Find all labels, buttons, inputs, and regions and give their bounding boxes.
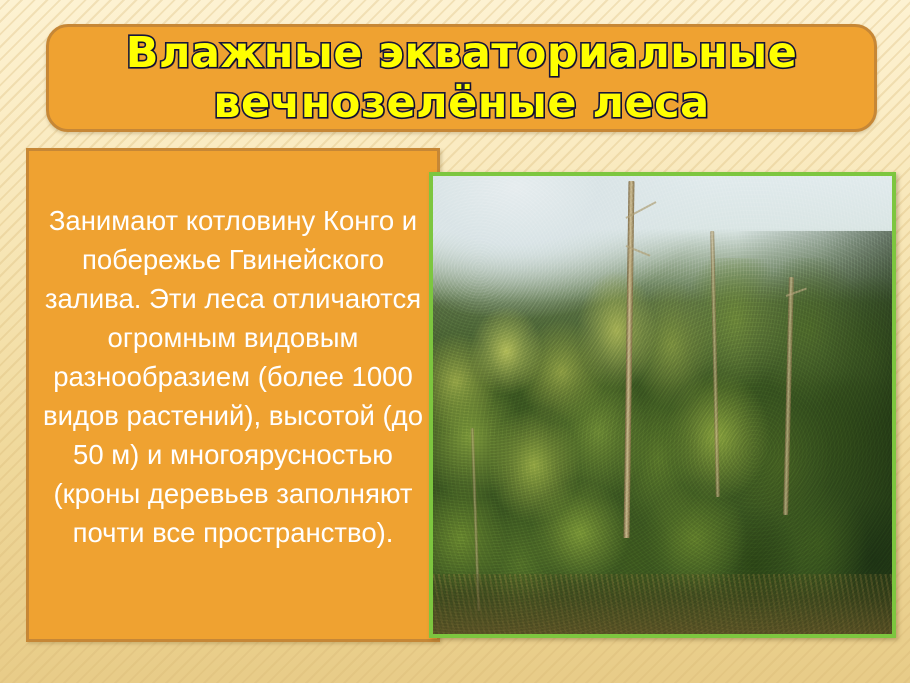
description-text: Занимают котловину Конго и побережье Гви… [29, 201, 437, 552]
title-box: Влажные экваториальные вечнозелёные леса [46, 24, 877, 132]
forest-photo-frame [429, 172, 896, 638]
slide-canvas: Влажные экваториальные вечнозелёные леса… [0, 0, 910, 683]
photo-foliage-texture [433, 176, 892, 634]
page-title: Влажные экваториальные вечнозелёные леса [116, 28, 808, 128]
description-panel: Занимают котловину Конго и побережье Гви… [26, 148, 440, 642]
forest-photo-image [433, 176, 892, 634]
